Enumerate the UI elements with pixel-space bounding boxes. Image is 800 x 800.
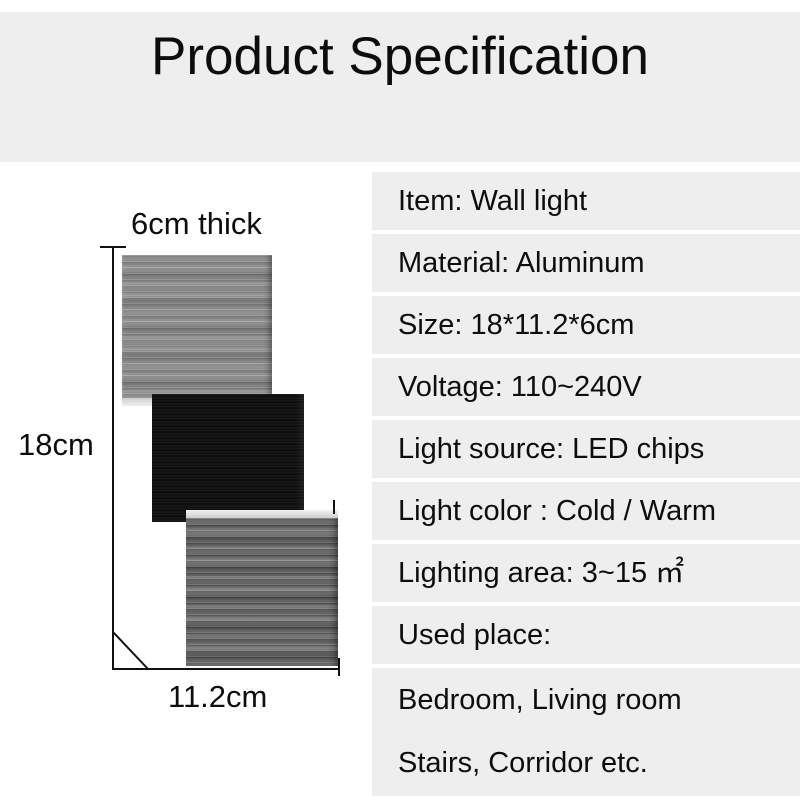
spec-row-text: Material: Aluminum (398, 249, 645, 278)
spec-row-text: Lighting area: 3~15 ㎡ (398, 559, 684, 588)
thickness-dimension-label: 6cm thick (131, 206, 262, 242)
spec-row-used-place: Used place: (372, 606, 800, 664)
spec-row-material: Material: Aluminum (372, 234, 800, 292)
product-figure: 6cm thick 18cm 11.2cm (0, 162, 370, 800)
spec-row-used-place-values: Bedroom, Living room Stairs, Corridor et… (372, 668, 800, 796)
spec-row-size: Size: 18*11.2*6cm (372, 296, 800, 354)
width-dimension-label: 11.2cm (168, 679, 267, 715)
spec-row-text: Voltage: 110~240V (398, 373, 642, 402)
spec-row-text: Light source: LED chips (398, 435, 704, 464)
top-aluminium-block (122, 255, 272, 400)
spec-row-item: Item: Wall light (372, 172, 800, 230)
spec-row-text: Light color : Cold / Warm (398, 497, 716, 526)
bottom-aluminium-block (186, 518, 338, 666)
corner-leader-line (110, 630, 154, 672)
width-dimension-tick-right (338, 658, 340, 676)
page-title: Product Specification (0, 26, 800, 87)
height-dimension-line (112, 247, 114, 670)
used-place-line: Bedroom, Living room (398, 686, 800, 715)
spec-row-light-source: Light source: LED chips (372, 420, 800, 478)
spec-row-text: Item: Wall light (398, 187, 587, 216)
spec-row-text: Size: 18*11.2*6cm (398, 311, 634, 340)
spec-row-text: Used place: (398, 621, 551, 650)
spec-row-voltage: Voltage: 110~240V (372, 358, 800, 416)
spec-row-light-color: Light color : Cold / Warm (372, 482, 800, 540)
height-dimension-label: 18cm (18, 427, 94, 463)
depth-dimension-tick (333, 500, 335, 514)
middle-black-block (152, 394, 304, 522)
spec-row-lighting-area: Lighting area: 3~15 ㎡ (372, 544, 800, 602)
specification-list: Item: Wall light Material: Aluminum Size… (372, 172, 800, 800)
used-place-line: Stairs, Corridor etc. (398, 749, 800, 778)
